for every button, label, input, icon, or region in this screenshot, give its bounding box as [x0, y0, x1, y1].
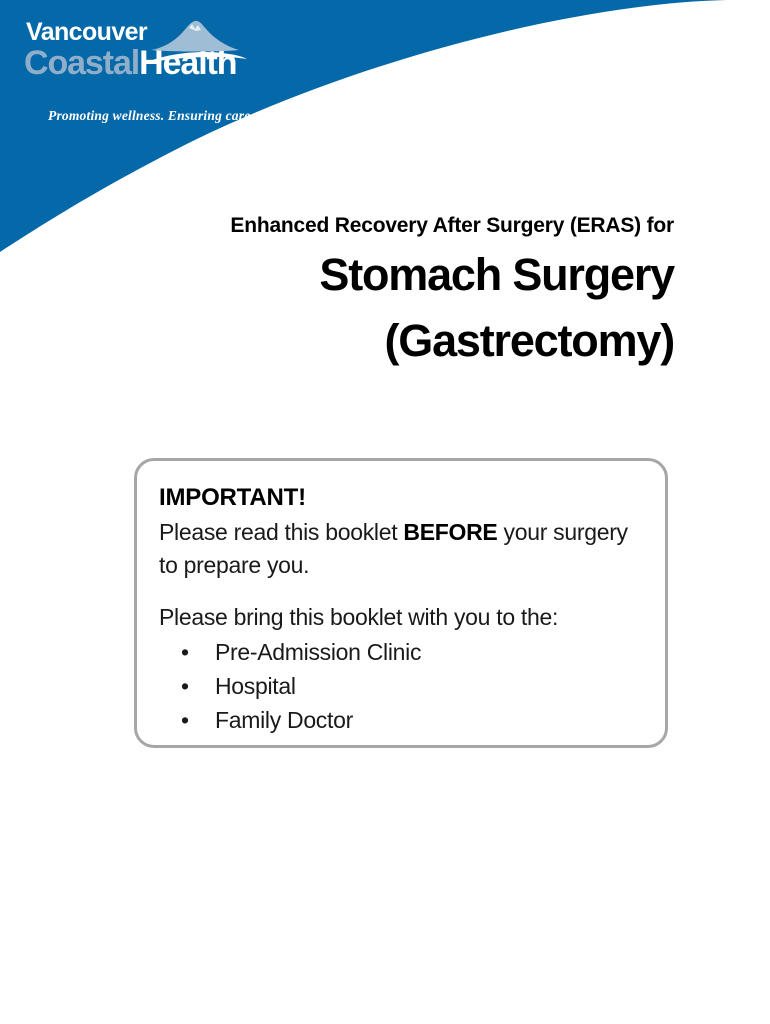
- title-block: Enhanced Recovery After Surgery (ERAS) f…: [98, 212, 674, 372]
- document-page: Vancouver CoastalHealth Promoting wellne…: [0, 0, 770, 1024]
- bullet-icon: •: [181, 670, 189, 704]
- list-item-label: Hospital: [215, 673, 296, 699]
- list-item-label: Family Doctor: [215, 707, 353, 733]
- list-item: • Pre-Admission Clinic: [159, 636, 639, 670]
- title-eyebrow: Enhanced Recovery After Surgery (ERAS) f…: [98, 212, 674, 240]
- important-heading: IMPORTANT!: [159, 483, 639, 513]
- bring-booklet-list: • Pre-Admission Clinic • Hospital • Fami…: [159, 636, 639, 737]
- mountain-icon: [143, 18, 253, 68]
- paragraph-1-text-before: Please read this booklet: [159, 519, 403, 545]
- list-item: • Family Doctor: [159, 704, 639, 738]
- logo-coastal-word: Coastal: [24, 44, 139, 82]
- important-paragraph-1: Please read this booklet BEFORE your sur…: [159, 516, 639, 583]
- list-item-label: Pre-Admission Clinic: [215, 639, 421, 665]
- logo-vancouver-text: Vancouver: [26, 20, 147, 45]
- important-paragraph-2: Please bring this booklet with you to th…: [159, 601, 639, 634]
- list-item: • Hospital: [159, 670, 639, 704]
- logo-tagline: Promoting wellness. Ensuring care.: [48, 108, 254, 124]
- mountain-glyph: [143, 18, 253, 68]
- bullet-icon: •: [181, 704, 189, 738]
- bullet-icon: •: [181, 636, 189, 670]
- page-title-line-2: (Gastrectomy): [98, 310, 674, 372]
- paragraph-1-emphasis: BEFORE: [403, 519, 497, 545]
- page-title-line-1: Stomach Surgery: [98, 244, 674, 306]
- important-callout-box: IMPORTANT! Please read this booklet BEFO…: [134, 458, 668, 748]
